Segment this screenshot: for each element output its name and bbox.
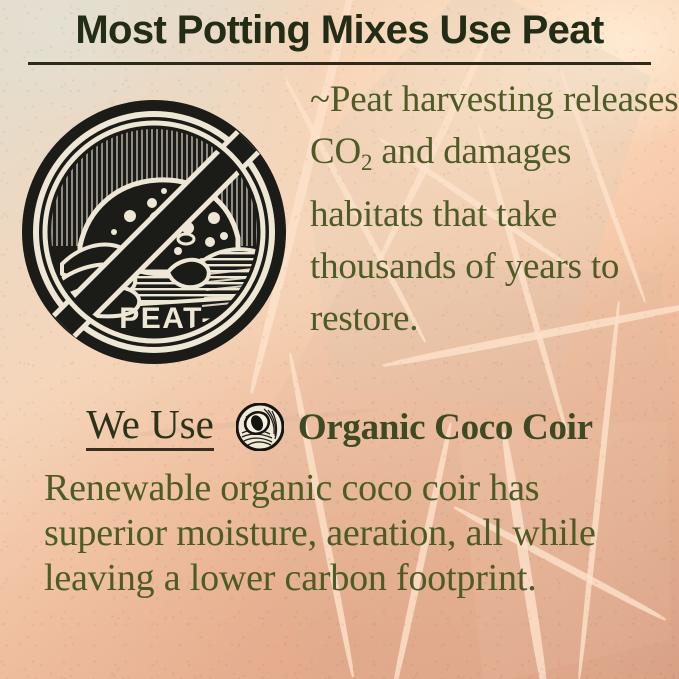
peat-free-badge: PEAT- -FREE- bbox=[18, 96, 290, 368]
co2-subscript: 2 bbox=[361, 150, 372, 175]
headline-underline-rule bbox=[28, 62, 651, 65]
coconut-coir-icon bbox=[236, 403, 284, 451]
headline-most-potting-mixes-use-peat: Most Potting Mixes Use Peat bbox=[0, 8, 679, 53]
organic-coco-coir-label: Organic Coco Coir bbox=[298, 406, 593, 449]
coco-coir-benefits-paragraph: Renewable organic coco coir has superior… bbox=[44, 466, 659, 601]
we-use-label: We Use bbox=[86, 403, 214, 451]
infographic-canvas: Most Potting Mixes Use Peat bbox=[0, 0, 679, 679]
we-use-row: We Use bbox=[0, 400, 679, 454]
infographic-content: Most Potting Mixes Use Peat bbox=[0, 0, 679, 679]
peat-impact-paragraph: ~Peat harvesting releases CO2 and damage… bbox=[310, 74, 679, 345]
